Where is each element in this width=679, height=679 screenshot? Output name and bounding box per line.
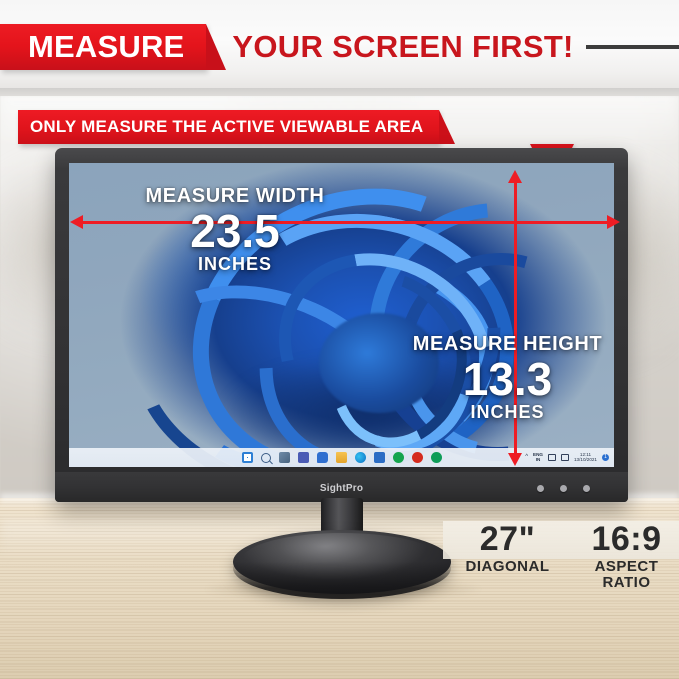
control-dot-3-icon[interactable] — [583, 485, 590, 492]
spec-panel: 27" DIAGONAL 16:9 ASPECT RATIO — [455, 522, 679, 592]
language-indicator[interactable]: ENG IN — [533, 453, 543, 463]
chat-icon[interactable] — [317, 452, 328, 463]
app-green-icon[interactable] — [393, 452, 404, 463]
clock[interactable]: 12:11 13/10/2021 — [574, 453, 597, 463]
height-value: 13.3 — [395, 357, 620, 402]
headline-divider — [586, 45, 679, 49]
spec-aspect-label-line2: RATIO — [602, 574, 650, 591]
height-measurement-label: MEASURE HEIGHT 13.3 INCHES — [395, 333, 620, 423]
clock-date: 13/10/2021 — [574, 457, 597, 462]
header-band: MEASURE YOUR SCREEN FIRST! — [0, 0, 679, 96]
search-icon[interactable] — [261, 453, 271, 463]
edge-icon[interactable] — [355, 452, 366, 463]
control-dot-2-icon[interactable] — [560, 485, 567, 492]
system-tray[interactable]: ^ ENG IN 12:11 13/10/2021 1 — [525, 453, 609, 463]
arrow-head-bottom-icon — [508, 453, 522, 466]
sub-banner: ONLY MEASURE THE ACTIVE VIEWABLE AREA — [18, 110, 439, 144]
arrow-head-right-icon — [607, 215, 620, 229]
spec-diagonal-label: DIAGONAL — [455, 559, 560, 576]
app-green2-icon[interactable] — [431, 452, 442, 463]
width-unit: INCHES — [125, 254, 345, 275]
spec-aspect: 16:9 ASPECT RATIO — [574, 522, 679, 592]
spec-diagonal-value: 27" — [455, 522, 560, 557]
teams-icon[interactable] — [298, 452, 309, 463]
widgets-icon[interactable] — [279, 452, 290, 463]
infographic-canvas: MEASURE YOUR SCREEN FIRST! ONLY MEASURE … — [0, 0, 679, 679]
network-icon[interactable] — [548, 454, 556, 461]
tray-chevron-up-icon[interactable]: ^ — [525, 454, 528, 460]
headline-row: MEASURE YOUR SCREEN FIRST! — [0, 24, 679, 70]
monitor-base-highlight — [243, 533, 441, 585]
spec-aspect-value: 16:9 — [574, 522, 679, 557]
header-shadow — [0, 88, 679, 98]
store-icon[interactable] — [374, 452, 385, 463]
file-explorer-icon[interactable] — [336, 452, 347, 463]
headline-text: YOUR SCREEN FIRST! — [232, 29, 573, 65]
headline-tag: MEASURE — [0, 24, 206, 70]
spec-diagonal: 27" DIAGONAL — [455, 522, 560, 592]
control-dot-1-icon[interactable] — [537, 485, 544, 492]
width-measurement-label: MEASURE WIDTH 23.5 INCHES — [125, 185, 345, 275]
notification-badge[interactable]: 1 — [602, 454, 609, 461]
spec-aspect-label: ASPECT RATIO — [574, 559, 679, 592]
spec-aspect-label-line1: ASPECT — [595, 558, 659, 575]
volume-icon[interactable] — [561, 454, 569, 461]
height-unit: INCHES — [395, 402, 620, 423]
windows-taskbar[interactable]: ^ ENG IN 12:11 13/10/2021 1 — [69, 448, 614, 467]
language-bottom: IN — [536, 457, 541, 462]
monitor-control-buttons[interactable] — [537, 485, 590, 492]
windows-start-icon[interactable] — [242, 452, 253, 463]
app-red-icon[interactable] — [412, 452, 423, 463]
width-value: 23.5 — [125, 209, 345, 254]
